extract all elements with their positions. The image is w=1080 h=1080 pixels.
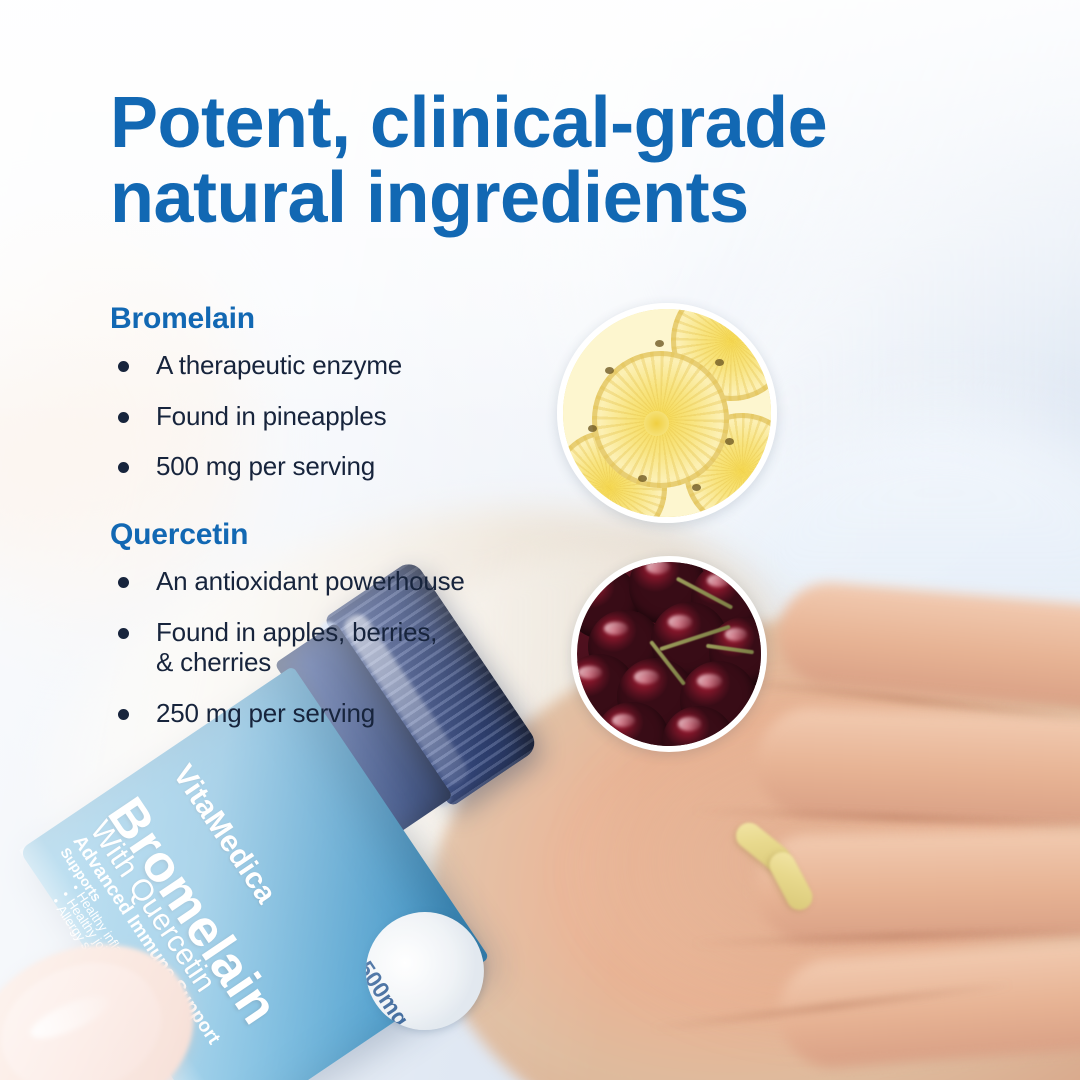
dosage-amount: 500mg: [353, 956, 414, 1030]
bullet-dot-icon: [118, 628, 129, 639]
bullet-text-line2: & cherries: [156, 647, 580, 678]
bullet-text: An antioxidant powerhouse: [156, 566, 465, 596]
section-quercetin: Quercetin An antioxidant powerhouse Foun…: [110, 518, 580, 749]
bullet-dot-icon: [118, 361, 129, 372]
headline-line-2: natural ingredients: [110, 161, 990, 236]
bullet-dot-icon: [118, 577, 129, 588]
list-item: A therapeutic enzyme: [110, 350, 580, 381]
pineapple-core: [644, 411, 669, 436]
bullet-text: 250 mg per serving: [156, 698, 375, 728]
bullet-text: Found in apples, berries,: [156, 617, 437, 647]
bullet-dot-icon: [118, 412, 129, 423]
cherries-photo-circle: [571, 556, 767, 752]
bullet-list-bromelain: A therapeutic enzyme Found in pineapples…: [110, 350, 580, 482]
page-title: Potent, clinical-grade natural ingredien…: [110, 86, 990, 236]
pineapple-eye: [715, 359, 724, 366]
dosage-badge-text: 500mg Bromelain Per Serving: [343, 956, 414, 1042]
pineapple-eye: [605, 367, 614, 374]
list-item: Found in pineapples: [110, 401, 580, 432]
cherries-image: [577, 562, 761, 746]
bullet-list-quercetin: An antioxidant powerhouse Found in apple…: [110, 566, 580, 729]
pineapple-eye: [655, 340, 664, 347]
section-bromelain: Bromelain A therapeutic enzyme Found in …: [110, 302, 580, 502]
pineapple-eye: [692, 484, 701, 491]
bullet-text: 500 mg per serving: [156, 451, 375, 481]
product-marketing-image: VitaMedica Bromelain With Quercetin Adva…: [0, 0, 1080, 1080]
section-title-bromelain: Bromelain: [110, 302, 580, 336]
bullet-dot-icon: [118, 462, 129, 473]
list-item: 500 mg per serving: [110, 451, 580, 482]
bullet-dot-icon: [118, 709, 129, 720]
list-item: 250 mg per serving: [110, 698, 580, 729]
bullet-text: Found in pineapples: [156, 401, 386, 431]
section-title-quercetin: Quercetin: [110, 518, 580, 552]
pineapple-image: [563, 309, 771, 517]
headline-line-1: Potent, clinical-grade: [110, 86, 990, 161]
pineapple-photo-circle: [557, 303, 777, 523]
list-item: An antioxidant powerhouse: [110, 566, 580, 597]
finger-middle: [754, 706, 1080, 828]
bullet-text: A therapeutic enzyme: [156, 350, 402, 380]
list-item: Found in apples, berries, & cherries: [110, 617, 580, 678]
